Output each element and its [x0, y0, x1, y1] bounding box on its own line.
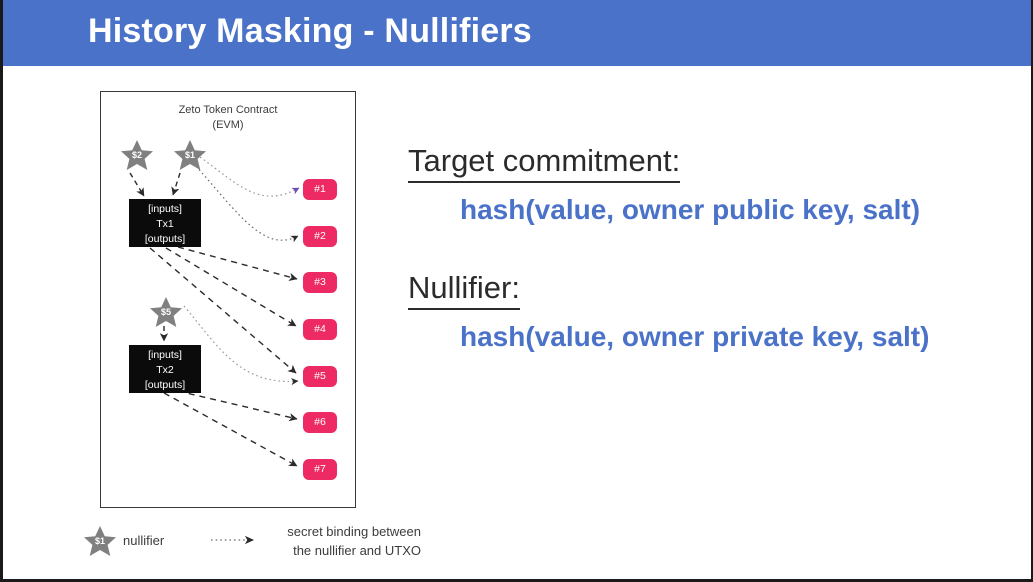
binding-star1-to-utxo1 [200, 157, 299, 196]
diagram-legend: $1 nullifier secret binding between the … [81, 520, 411, 568]
definition-term: Nullifier: [408, 269, 520, 310]
arrow-tx1-to-utxo4 [166, 248, 296, 326]
tx-inputs-label: [inputs] [129, 348, 201, 363]
legend-nullifier-text: nullifier [123, 533, 164, 548]
definition-nullifier: Nullifier: hash(value, owner private key… [408, 269, 1023, 354]
legend-binding-text: secret binding between the nullifier and… [241, 522, 421, 560]
legend-star-label: $1 [83, 536, 117, 546]
definition-term: Target commitment: [408, 142, 680, 183]
nullifier-star-2: $2 [120, 139, 154, 172]
legend-binding-line1: secret binding between [241, 522, 421, 541]
legend-binding-line2: the nullifier and UTXO [241, 541, 421, 560]
definition-formula: hash(value, owner public key, salt) [460, 193, 1023, 227]
definition-target-commitment: Target commitment: hash(value, owner pub… [408, 142, 1023, 227]
arrow-star1-to-tx1 [173, 173, 180, 195]
arrow-star2-to-tx1 [130, 173, 144, 196]
transaction-box-tx1: [inputs] Tx1 [outputs] [129, 199, 201, 247]
utxo-badge: #1 [303, 179, 337, 200]
star-label: $2 [120, 150, 154, 160]
utxo-badge: #6 [303, 412, 337, 433]
tx-inputs-label: [inputs] [129, 202, 201, 217]
nullifier-star-1: $1 [173, 139, 207, 172]
tx-id-label: Tx2 [129, 363, 201, 378]
utxo-badge: #3 [303, 272, 337, 293]
transaction-box-tx2: [inputs] Tx2 [outputs] [129, 345, 201, 393]
page-title: History Masking - Nullifiers [88, 12, 532, 51]
tx-outputs-label: [outputs] [129, 378, 201, 393]
star-label: $1 [173, 150, 207, 160]
arrow-tx2-to-utxo7 [164, 393, 297, 466]
nullifier-star-5: $5 [149, 296, 183, 329]
slide-root: History Masking - Nullifiers Zeto Token … [0, 0, 1033, 582]
utxo-badge: #5 [303, 366, 337, 387]
legend-nullifier-star: $1 [83, 525, 117, 558]
utxo-badge: #4 [303, 319, 337, 340]
star-label: $5 [149, 307, 183, 317]
utxo-badge: #7 [303, 459, 337, 480]
definition-formula: hash(value, owner private key, salt) [460, 320, 1023, 354]
utxo-badge: #2 [303, 226, 337, 247]
arrow-tx1-to-utxo3 [178, 247, 297, 279]
tx-id-label: Tx1 [129, 217, 201, 232]
binding-star2-to-utxo2 [196, 166, 298, 240]
tx-outputs-label: [outputs] [129, 232, 201, 247]
definitions-panel: Target commitment: hash(value, owner pub… [408, 142, 1023, 396]
arrow-tx2-to-utxo6 [178, 391, 297, 419]
